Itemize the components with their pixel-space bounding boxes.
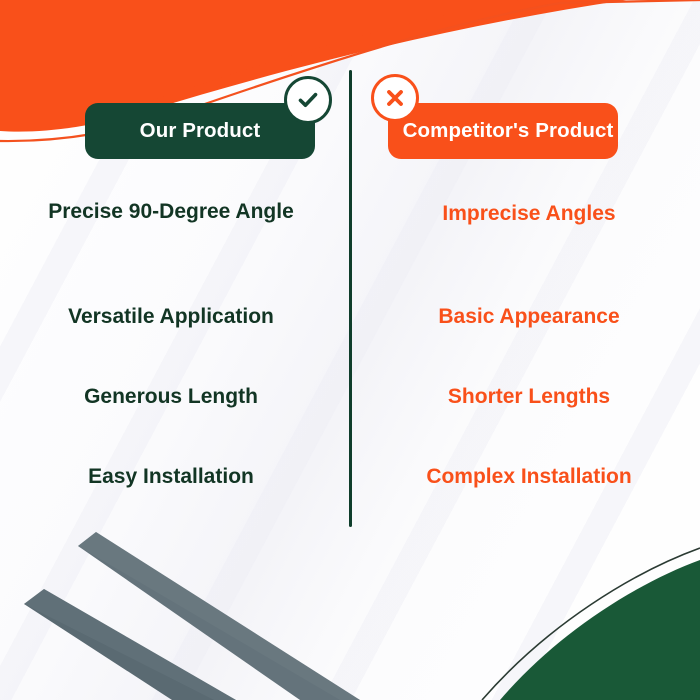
cross-circle-icon <box>371 74 419 122</box>
competitor-feature-0: Imprecise Angles <box>364 199 694 229</box>
check-circle-icon <box>284 76 332 124</box>
column-our-product: Our Product Precise 90-Degree Angle Vers… <box>0 0 350 700</box>
our-feature-1: Versatile Application <box>6 302 336 332</box>
competitor-feature-3: Complex Installation <box>364 462 694 492</box>
competitor-product-header[interactable]: Competitor's Product <box>388 103 618 159</box>
competitor-feature-2: Shorter Lengths <box>364 382 694 412</box>
our-product-header-label: Our Product <box>140 119 261 143</box>
comparison-columns: Our Product Precise 90-Degree Angle Vers… <box>0 0 700 700</box>
comparison-infographic: Our Product Precise 90-Degree Angle Vers… <box>0 0 700 700</box>
our-feature-3: Easy Installation <box>6 462 336 492</box>
column-competitor-product: Competitor's Product Imprecise Angles Ba… <box>350 0 700 700</box>
competitor-feature-1: Basic Appearance <box>364 302 694 332</box>
our-feature-0: Precise 90-Degree Angle <box>6 197 336 227</box>
our-product-header[interactable]: Our Product <box>85 103 315 159</box>
competitor-product-header-label: Competitor's Product <box>393 119 614 143</box>
our-feature-2: Generous Length <box>6 382 336 412</box>
